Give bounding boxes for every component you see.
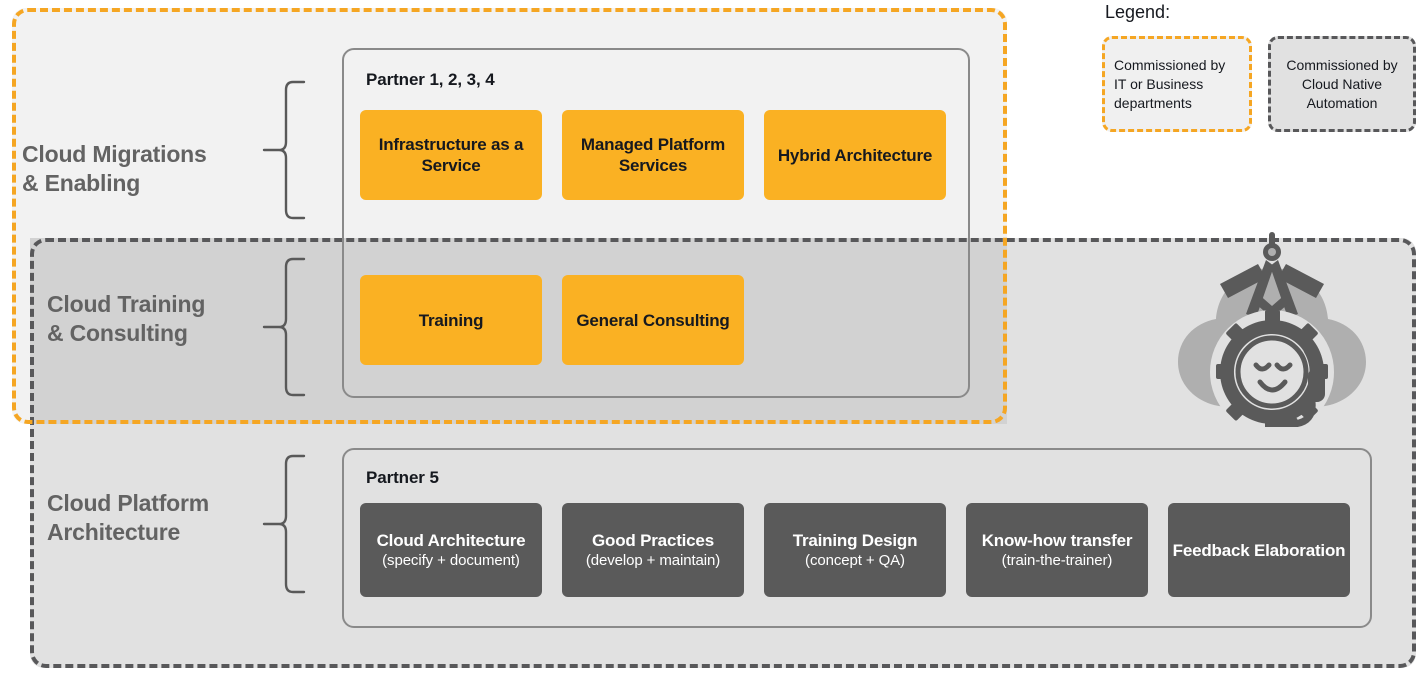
service-box-training-design[interactable]: Training Design (concept + QA)	[764, 503, 946, 597]
service-box-title: Infrastructure as a Service	[360, 134, 542, 176]
service-box-title: Managed Platform Services	[562, 134, 744, 176]
service-box-subtitle: (develop + maintain)	[586, 551, 720, 570]
legend-title: Legend:	[1105, 2, 1170, 23]
service-box-good-practices[interactable]: Good Practices (develop + maintain)	[562, 503, 744, 597]
service-box-managed-platform-services[interactable]: Managed Platform Services	[562, 110, 744, 200]
brace-row-2	[260, 255, 306, 399]
cloud-architect-automation-icon	[1160, 222, 1385, 427]
caption-partner-5: Partner 5	[366, 468, 439, 488]
caption-partner-1234: Partner 1, 2, 3, 4	[366, 70, 495, 90]
row-label-line-2: & Enabling	[22, 169, 272, 198]
service-box-text: Cloud Architecture (specify + document)	[377, 530, 526, 570]
row-label-cloud-migrations-enabling: Cloud Migrations & Enabling	[22, 140, 272, 198]
service-box-title: Feedback Elaboration	[1173, 540, 1346, 561]
service-box-general-consulting[interactable]: General Consulting	[562, 275, 744, 365]
legend-item-label: Commissioned by Cloud Native Automation	[1280, 56, 1404, 113]
service-box-text: Know-how transfer (train-the-trainer)	[982, 530, 1133, 570]
service-box-text: Training Design (concept + QA)	[793, 530, 918, 570]
legend-item-commissioned-cloud-native: Commissioned by Cloud Native Automation	[1268, 36, 1416, 132]
service-box-title: Good Practices	[592, 531, 714, 550]
service-box-training[interactable]: Training	[360, 275, 542, 365]
service-box-know-how-transfer[interactable]: Know-how transfer (train-the-trainer)	[966, 503, 1148, 597]
service-box-title: Cloud Architecture	[377, 531, 526, 550]
brace-row-3	[260, 452, 306, 596]
service-box-subtitle: (concept + QA)	[793, 551, 918, 570]
legend-item-commissioned-it-business: Commissioned by IT or Business departmen…	[1102, 36, 1252, 132]
service-box-title: Training Design	[793, 531, 918, 550]
service-box-hybrid-architecture[interactable]: Hybrid Architecture	[764, 110, 946, 200]
service-box-subtitle: (train-the-trainer)	[982, 551, 1133, 570]
service-box-feedback-elaboration[interactable]: Feedback Elaboration	[1168, 503, 1350, 597]
service-box-cloud-architecture[interactable]: Cloud Architecture (specify + document)	[360, 503, 542, 597]
service-box-text: Good Practices (develop + maintain)	[586, 530, 720, 570]
brace-row-1	[260, 78, 306, 222]
service-box-title: Know-how transfer	[982, 531, 1133, 550]
service-box-title: Hybrid Architecture	[778, 145, 932, 166]
service-box-infrastructure-as-a-service[interactable]: Infrastructure as a Service	[360, 110, 542, 200]
service-box-title: Training	[419, 310, 484, 331]
service-box-subtitle: (specify + document)	[377, 551, 526, 570]
legend-item-label: Commissioned by IT or Business departmen…	[1114, 56, 1240, 113]
service-box-title: General Consulting	[576, 310, 729, 331]
row-label-line-1: Cloud Migrations	[22, 140, 272, 169]
